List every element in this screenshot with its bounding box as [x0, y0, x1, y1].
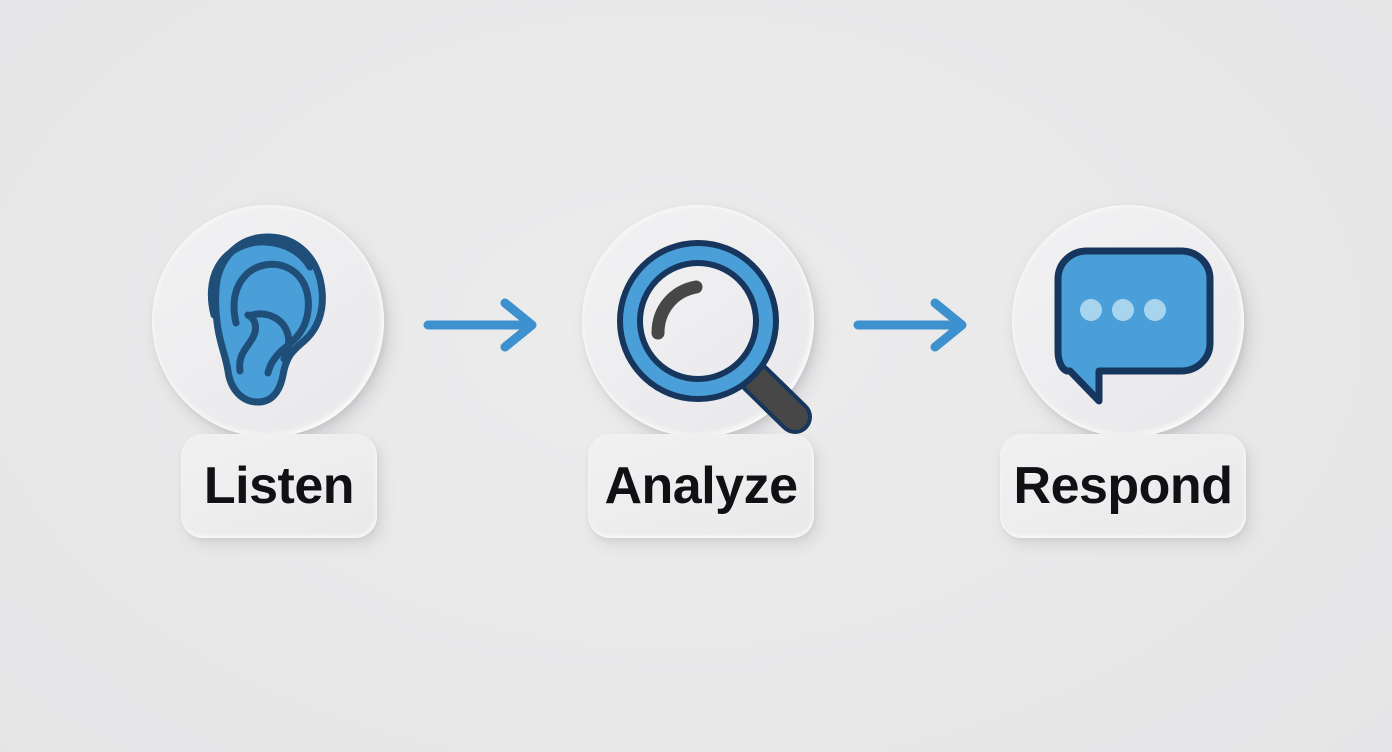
- icon-disc-analyze[interactable]: [582, 205, 814, 437]
- icon-disc-listen[interactable]: [152, 205, 384, 437]
- step-label-respond: Respond: [1014, 460, 1233, 512]
- arrow-analyze-to-respond: [850, 292, 980, 358]
- arrow-listen-to-analyze: [420, 292, 550, 358]
- icon-disc-respond[interactable]: [1012, 205, 1244, 437]
- step-label-analyze: Analyze: [604, 460, 797, 512]
- diagram-canvas: Listen Analyze: [0, 0, 1392, 752]
- label-chip-respond[interactable]: Respond: [1000, 434, 1246, 538]
- label-chip-listen[interactable]: Listen: [181, 434, 377, 538]
- speech-bubble-icon: [1012, 205, 1244, 437]
- magnifying-glass-icon: [582, 205, 814, 437]
- ear-icon: [152, 205, 384, 437]
- step-label-listen: Listen: [204, 460, 354, 512]
- label-chip-analyze[interactable]: Analyze: [588, 434, 814, 538]
